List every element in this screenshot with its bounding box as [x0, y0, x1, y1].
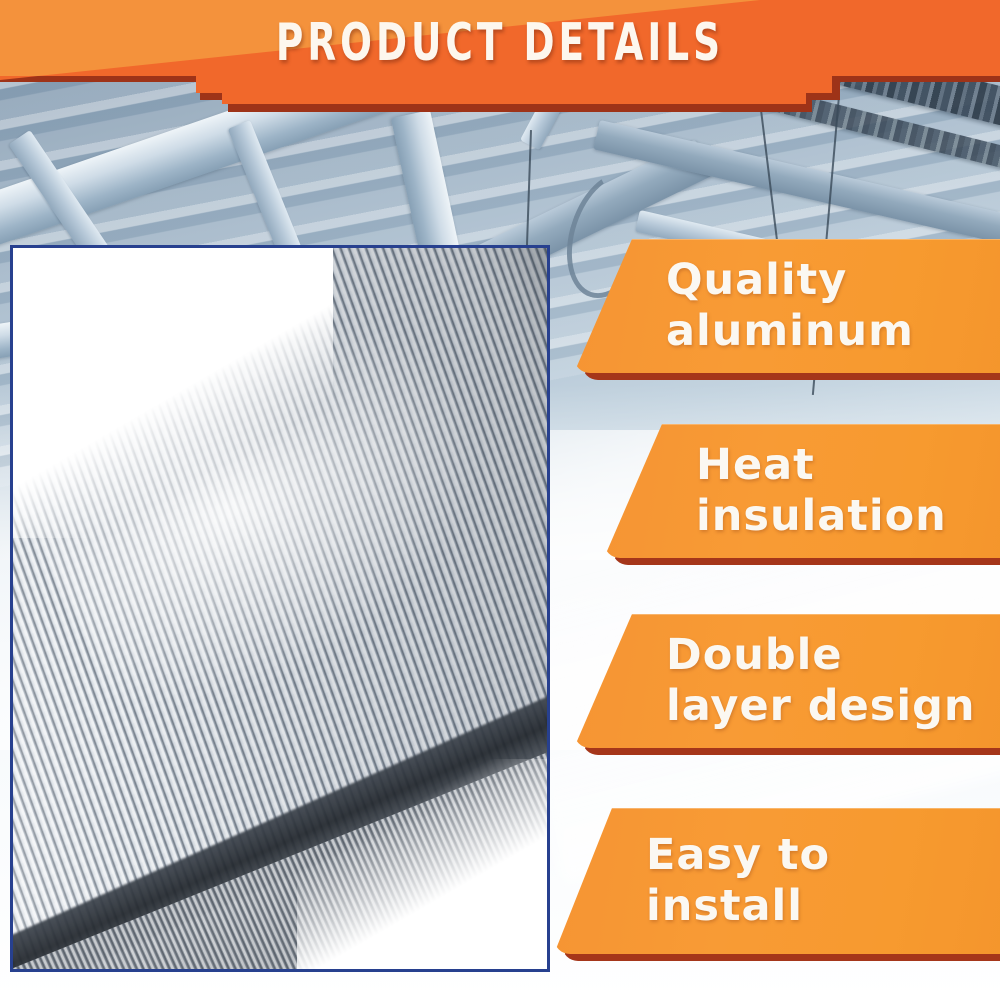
feature-callout-double-layer-design[interactable]: Double layer design — [574, 614, 1000, 748]
callout-text: Quality aluminum — [666, 255, 1000, 357]
product-details-banner: PRODUCT DETAILS Quality aluminum Heat in… — [0, 0, 1000, 1000]
callout-line-1: Double — [666, 630, 1000, 681]
callout-line-2: insulation — [696, 491, 1000, 542]
callout-text: Easy to install — [646, 830, 1000, 932]
callout-line-1: Easy to — [646, 830, 1000, 881]
callout-line-1: Quality — [666, 255, 1000, 306]
product-photo-foil-insulation — [13, 248, 547, 969]
callout-text: Double layer design — [666, 630, 1000, 732]
header-banner: PRODUCT DETAILS — [0, 0, 1000, 112]
feature-callout-quality-aluminum[interactable]: Quality aluminum — [574, 239, 1000, 373]
feature-callout-easy-to-install[interactable]: Easy to install — [554, 808, 1000, 954]
product-photo-frame — [10, 245, 550, 972]
page-title: PRODUCT DETAILS — [100, 15, 900, 71]
callout-line-2: layer design — [666, 681, 1000, 732]
photo-white-corner-bottomright — [297, 759, 547, 969]
callout-line-2: install — [646, 881, 1000, 932]
photo-white-corner-topleft — [13, 248, 333, 538]
callout-line-1: Heat — [696, 440, 1000, 491]
feature-callout-heat-insulation[interactable]: Heat insulation — [604, 424, 1000, 558]
callout-line-2: aluminum — [666, 306, 1000, 357]
callout-text: Heat insulation — [696, 440, 1000, 542]
